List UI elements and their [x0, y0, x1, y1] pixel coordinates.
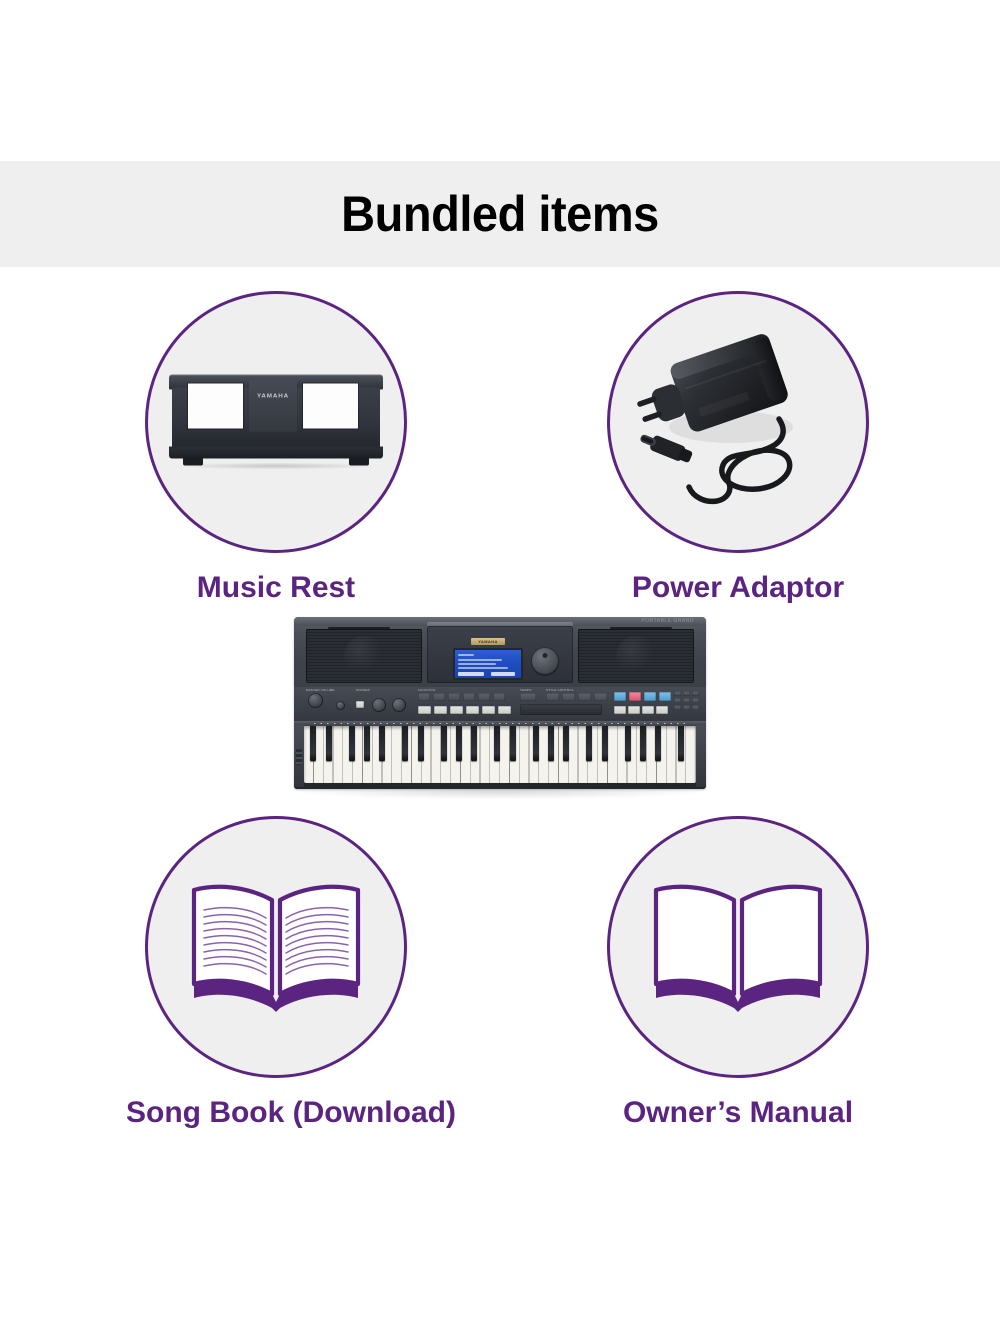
panel-button-fn-3[interactable]: [448, 693, 460, 701]
keyboard-keybed: [294, 721, 706, 789]
input-jack-right[interactable]: [392, 698, 406, 712]
panel-button-tempo[interactable]: [520, 693, 536, 701]
keyboard-black-key: [678, 726, 684, 761]
keyboard-end-cap-left: [294, 725, 304, 787]
panel-button-fn-2[interactable]: [433, 693, 445, 701]
panel-button-lesson-l[interactable]: [644, 692, 656, 701]
input-jack-left[interactable]: [372, 698, 386, 712]
music-rest-shadow: [177, 463, 375, 470]
power-adaptor-icon: [631, 315, 845, 529]
music-rest-label: Music Rest: [126, 572, 426, 604]
numpad-key-8[interactable]: [683, 705, 690, 710]
keyboard-white-keys[interactable]: [304, 726, 696, 783]
yamaha-keyboard-photo: PORTABLE GRAND YAMAHA MASTER VOLUME PH: [294, 617, 706, 797]
keyboard-black-key: [349, 726, 355, 761]
owners-manual-label: Owner’s Manual: [588, 1097, 888, 1129]
numpad-key-1[interactable]: [674, 691, 681, 696]
panel-button-style-2[interactable]: [562, 693, 575, 701]
keyboard-data-dial[interactable]: [531, 647, 559, 675]
keyboard-top-brand-text: PORTABLE GRAND: [641, 618, 694, 624]
song-book-label: Song Book (Download): [126, 1097, 426, 1129]
numpad-key-2[interactable]: [683, 691, 690, 696]
panel-strip-style: [520, 704, 602, 715]
keyboard-black-key: [418, 726, 424, 761]
panel-button-voice-1[interactable]: [418, 706, 431, 714]
keyboard-black-key: [310, 726, 316, 761]
keyboard-center-console: YAMAHA: [427, 626, 573, 683]
keyboard-body: PORTABLE GRAND YAMAHA MASTER VOLUME PH: [294, 617, 706, 789]
numpad-key-4[interactable]: [674, 698, 681, 703]
bundled-item-power-adaptor: Power Adaptor: [588, 291, 888, 604]
keyboard-black-key: [456, 726, 462, 761]
keyboard-black-key: [364, 726, 370, 761]
music-rest-window-left: [188, 384, 243, 429]
keyboard-lcd-display: [453, 648, 523, 680]
keyboard-black-key: [379, 726, 385, 761]
keyboard-black-key: [548, 726, 554, 761]
keyboard-black-key: [402, 726, 408, 761]
power-adaptor-label: Power Adaptor: [588, 572, 888, 604]
music-rest-center-panel: YAMAHA: [249, 380, 297, 432]
keyboard-black-key: [563, 726, 569, 761]
keyboard-black-key: [586, 726, 592, 761]
panel-button-voice-3[interactable]: [450, 706, 463, 714]
keyboard-black-key: [510, 726, 516, 761]
yamaha-logo-plate: YAMAHA: [471, 638, 505, 645]
power-knob[interactable]: [336, 701, 345, 710]
keyboard-black-key: [625, 726, 631, 761]
panel-button-lesson-r[interactable]: [659, 692, 671, 701]
panel-button-fn-4[interactable]: [463, 693, 475, 701]
music-rest-icon: YAMAHA: [169, 375, 383, 470]
panel-button-style-1[interactable]: [546, 693, 559, 701]
bundled-item-song-book: Song Book (Download): [126, 816, 426, 1129]
owners-manual-circle: [607, 816, 869, 1078]
keyboard-black-key: [533, 726, 539, 761]
yamaha-logo: YAMAHA: [257, 394, 289, 400]
panel-button-style-3[interactable]: [578, 693, 591, 701]
keyboard-side-switch[interactable]: [296, 749, 302, 765]
keyboard-black-key: [494, 726, 500, 761]
numpad-key-3[interactable]: [692, 691, 699, 696]
panel-button-fn-1[interactable]: [418, 693, 430, 701]
panel-button-voice-2[interactable]: [434, 706, 447, 714]
music-rest-window-right: [303, 384, 358, 429]
panel-button-voice-6[interactable]: [498, 706, 511, 714]
panel-button-song-4[interactable]: [656, 706, 668, 714]
music-rest-circle: YAMAHA: [145, 291, 407, 553]
panel-button-voice-4[interactable]: [466, 706, 479, 714]
keyboard-black-key: [655, 726, 661, 761]
numpad-key-5[interactable]: [683, 698, 690, 703]
panel-button-song-2[interactable]: [628, 706, 640, 714]
power-adaptor-circle: [607, 291, 869, 553]
keyboard-black-key: [326, 726, 332, 761]
numpad-key-6[interactable]: [692, 698, 699, 703]
bundled-item-owners-manual: Owner’s Manual: [588, 816, 888, 1129]
page-title: Bundled items: [341, 189, 659, 239]
panel-button-song-1[interactable]: [614, 706, 626, 714]
panel-button-song-select[interactable]: [614, 692, 626, 701]
keyboard-black-key: [640, 726, 646, 761]
open-book-lined-icon: [186, 872, 366, 1022]
numpad-key-9[interactable]: [692, 705, 699, 710]
keyboard-speaker-left: [306, 629, 422, 683]
panel-button-song-3[interactable]: [642, 706, 654, 714]
panel-button-style-4[interactable]: [594, 693, 607, 701]
panel-button-fn-5[interactable]: [478, 693, 490, 701]
bundled-item-music-rest: YAMAHA Music Rest: [126, 291, 426, 604]
panel-button-fn-6[interactable]: [493, 693, 505, 701]
header-band: Bundled items: [0, 161, 1000, 267]
keyboard-end-cap-right: [696, 725, 706, 787]
open-book-blank-icon: [648, 872, 828, 1022]
keyboard-black-key: [471, 726, 477, 761]
panel-button-voice-5[interactable]: [482, 706, 495, 714]
keyboard-speaker-right: [578, 629, 694, 683]
numpad-key-7[interactable]: [674, 705, 681, 710]
master-volume-knob[interactable]: [308, 693, 323, 708]
panel-button-demo[interactable]: [356, 701, 364, 708]
keyboard-control-panel: MASTER VOLUME PHONES FUNCTION TEMPO: [294, 687, 706, 721]
keyboard-black-key: [602, 726, 608, 761]
panel-button-record[interactable]: [629, 692, 641, 701]
song-book-circle: [145, 816, 407, 1078]
keyboard-black-key: [441, 726, 447, 761]
